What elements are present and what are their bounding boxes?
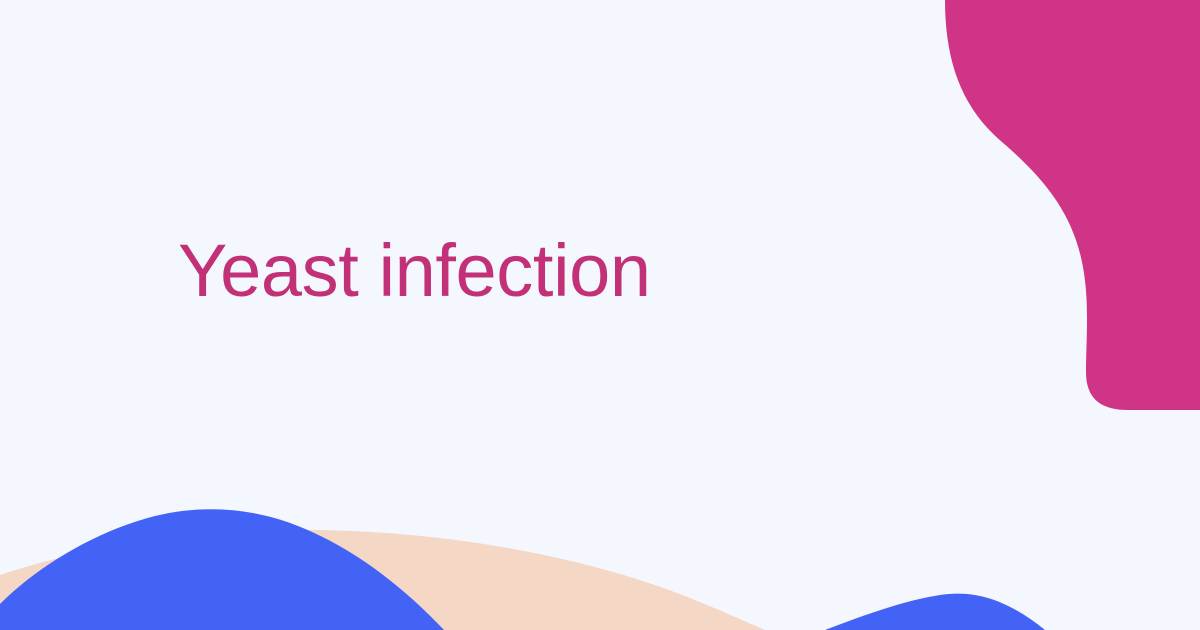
banner-card: Yeast infection	[0, 0, 1200, 630]
page-title: Yeast infection	[178, 228, 651, 314]
title-layer: Yeast infection	[0, 0, 1200, 630]
